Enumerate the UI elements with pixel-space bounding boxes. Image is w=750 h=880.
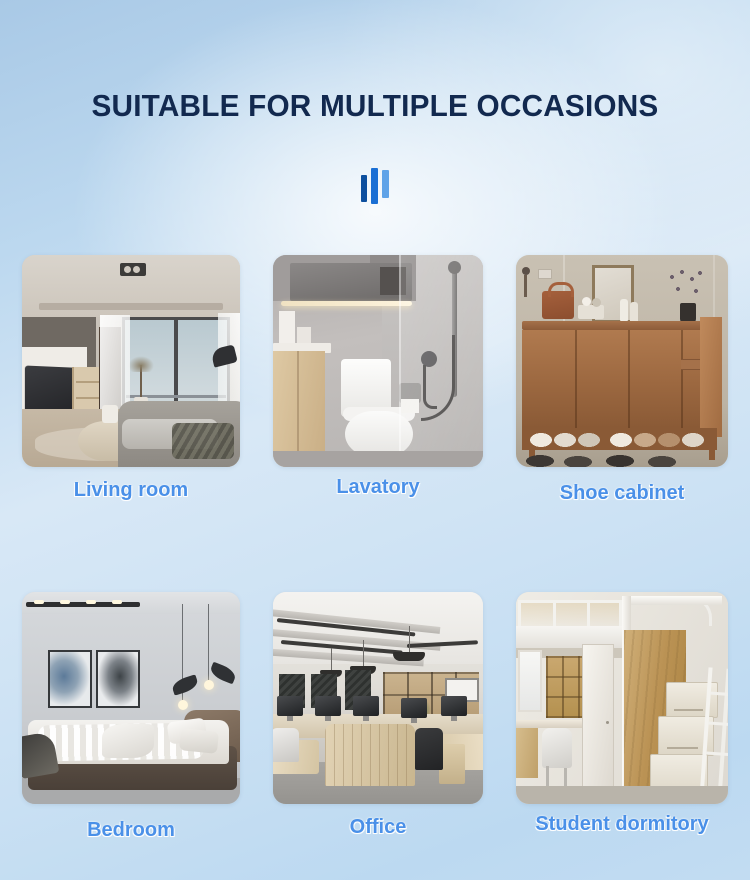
divider-bar-light [382,170,389,198]
occasion-card-living-room[interactable]: Living room [22,255,240,502]
divider-bar-dark [361,175,367,202]
occasion-card-shoe-cabinet[interactable]: Shoe cabinet [516,255,728,505]
living-room-photo [22,255,240,467]
occasion-caption-office: Office [273,816,483,839]
occasion-caption-student-dormitory: Student dormitory [516,813,728,836]
occasion-card-student-dormitory[interactable]: Student dormitory [516,592,728,836]
page-title: SUITABLE FOR MULTIPLE OCCASIONS [15,88,735,124]
occasion-caption-shoe-cabinet: Shoe cabinet [516,482,728,505]
shoe-cabinet-photo [516,255,728,467]
occasion-grid: Living room Lavatory [22,255,728,842]
office-photo [273,592,483,804]
lavatory-photo [273,255,483,467]
student-dormitory-photo [516,592,728,804]
occasion-row: Living room Lavatory [22,255,728,505]
occasion-row: Bedroom [22,592,728,842]
occasion-card-bedroom[interactable]: Bedroom [22,592,240,842]
occasion-card-office[interactable]: Office [273,592,483,839]
occasion-card-lavatory[interactable]: Lavatory [273,255,483,499]
divider-bar-mid [371,168,378,204]
three-bars-icon [0,166,750,206]
occasion-caption-living-room: Living room [22,479,240,502]
occasion-caption-lavatory: Lavatory [273,476,483,499]
occasion-caption-bedroom: Bedroom [22,819,240,842]
bedroom-photo [22,592,240,804]
